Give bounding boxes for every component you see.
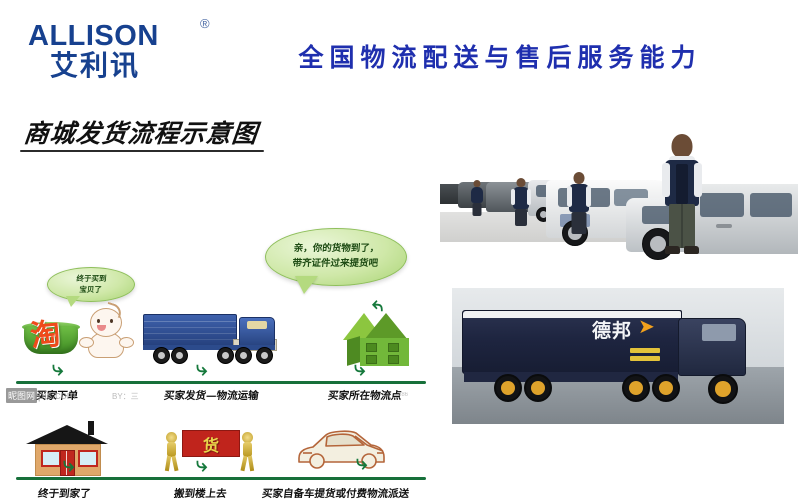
truck-wheel-2 — [524, 374, 552, 402]
sketch-car-icon — [293, 425, 389, 473]
truck-wheel-5 — [708, 374, 738, 404]
logo-english-text: ALLISON — [28, 22, 159, 51]
crate-label: 货 — [203, 432, 219, 456]
allison-logo: ALLISON ® 艾利讯 — [28, 22, 208, 84]
diagram-title: 商城发货流程示意图 — [22, 114, 260, 150]
goods-crate: 货 — [182, 430, 240, 457]
logo-chinese-text: 艾利讯 — [50, 52, 140, 80]
diagram-title-underline — [20, 150, 264, 152]
truck-windshield — [702, 324, 736, 341]
cartoon-baby-icon — [84, 308, 130, 358]
taobao-basket-icon: 淘 — [22, 312, 80, 356]
flow-arrow-5-icon: ⤷ — [196, 454, 207, 474]
movers-crate-icon: 货 — [158, 426, 262, 474]
shipping-flow-diagram: 商城发货流程示意图 亲，你的货物到了，带齐证件过来提货吧 终于买到宝贝了 淘 — [0, 100, 440, 420]
fleet-vehicle-right — [686, 184, 798, 254]
flow-arrow-1-icon: ⤷ — [52, 358, 63, 378]
registered-trademark-icon: ® — [200, 16, 210, 31]
deppon-arrow-icon: ➤ — [638, 314, 655, 338]
caption-row1-step2: 买家发货—物流运输 — [163, 388, 259, 403]
buyer-happy-text: 终于买到宝贝了 — [75, 273, 107, 296]
truck-wheel-3 — [622, 374, 650, 402]
caption-row2-step2: 搬到楼上去 — [173, 486, 227, 501]
caption-row2-step3: 买家自备车提货或付费物流派送 — [261, 486, 410, 501]
page-header: ALLISON ® 艾利讯 全国物流配送与售后服务能力 — [0, 0, 800, 100]
page-title: 全国物流配送与售后服务能力 — [240, 38, 760, 74]
deppon-brand-text: 德邦 — [592, 316, 632, 343]
caption-row1-step3: 买家所在物流点 — [327, 388, 402, 403]
semi-truck-icon — [143, 313, 275, 365]
deppon-truck-photo: 德邦 ➤ — [452, 288, 784, 424]
flow-arrow-6-icon: ⤷ — [356, 452, 367, 472]
caption-row2-step1: 终于到家了 — [37, 486, 91, 501]
truck-wheel-4 — [652, 374, 680, 402]
truck-wheel-1 — [494, 374, 522, 402]
flow-arrow-7-icon: ⤷ — [372, 298, 383, 318]
fleet-staff-3 — [512, 178, 530, 226]
flow-row-2-line — [16, 477, 426, 480]
flow-arrow-3-icon: ⤷ — [354, 358, 365, 378]
arrival-notice-text: 亲，你的货物到了，带齐证件过来提货吧 — [286, 242, 386, 271]
flow-arrow-4-icon: ⤷ — [63, 454, 74, 474]
arrival-notice-bubble: 亲，你的货物到了，带齐证件过来提货吧 — [265, 228, 407, 286]
flow-row-1-line — [16, 381, 426, 384]
fleet-staff-foreground — [662, 134, 702, 256]
arrival-bubble-tail-icon — [295, 276, 318, 294]
delivery-fleet-photo — [440, 108, 798, 260]
buyer-happy-bubble: 终于买到宝贝了 — [47, 267, 135, 302]
fleet-staff-2 — [568, 172, 590, 234]
caption-row1-step1: 买家下单 — [35, 388, 79, 403]
buyer-bubble-tail-icon — [66, 296, 80, 307]
fleet-staff-4 — [470, 180, 484, 216]
flow-arrow-2-icon: ⤷ — [196, 358, 207, 378]
